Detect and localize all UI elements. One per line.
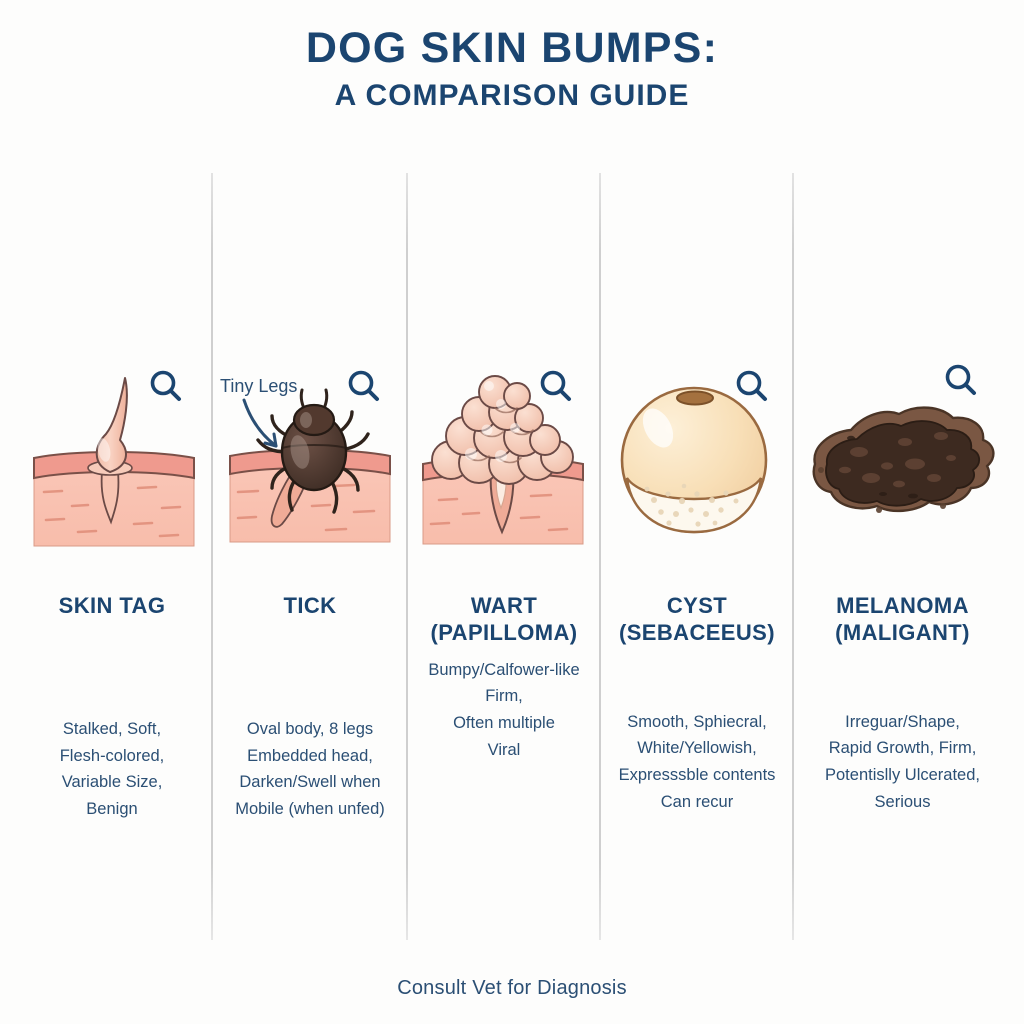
- comparison-column-skin-tag: SKIN TAG Stalked, Soft, Flesh-colored, V…: [14, 360, 210, 823]
- column-description-cyst: Smooth, Sphiecral, White/Yellowish, Expr…: [602, 709, 792, 816]
- desc-line: Mobile (when unfed): [214, 796, 406, 823]
- column-description-melanoma: Irreguar/Shape, Rapid Growth, Firm, Pote…: [795, 709, 1010, 816]
- comparison-column-wart: WART (PAPILLOMA) Bumpy/Calfower-like Fir…: [409, 360, 599, 764]
- desc-line: Oval body, 8 legs: [214, 716, 406, 743]
- magnifier-icon[interactable]: [147, 368, 187, 408]
- column-divider-2: [406, 173, 408, 940]
- column-description-skin-tag: Stalked, Soft, Flesh-colored, Variable S…: [14, 716, 210, 823]
- desc-line: Potentislly Ulcerated,: [795, 762, 1010, 789]
- comparison-column-tick: Tiny Legs TICK Oval body, 8 legs Embedde…: [214, 360, 406, 823]
- column-title-wart: WART (PAPILLOMA): [409, 593, 599, 647]
- desc-line: Smooth, Sphiecral,: [602, 709, 792, 736]
- page-title: DOG SKIN BUMPS: A COMPARISON GUIDE: [0, 26, 1024, 112]
- desc-line: Bumpy/Calfower-like: [409, 657, 599, 684]
- desc-line: Viral: [409, 737, 599, 764]
- title-line: (MALIGANT): [795, 620, 1010, 647]
- desc-line: Serious: [795, 789, 1010, 816]
- desc-line: Flesh-colored,: [14, 743, 210, 770]
- title-line: CYST: [602, 593, 792, 620]
- magnifier-icon[interactable]: [537, 368, 577, 408]
- column-title-melanoma: MELANOMA (MALIGANT): [795, 593, 1010, 647]
- wart-illustration: [409, 360, 599, 565]
- footer-note: Consult Vet for Diagnosis: [0, 977, 1024, 1000]
- desc-line: Firm,: [409, 683, 599, 710]
- desc-line: Rapid Growth, Firm,: [795, 735, 1010, 762]
- desc-line: Variable Size,: [14, 769, 210, 796]
- desc-line: Expresssble contents: [602, 762, 792, 789]
- desc-line: Stalked, Soft,: [14, 716, 210, 743]
- desc-line: Darken/Swell when: [214, 769, 406, 796]
- title-subtitle: A COMPARISON GUIDE: [0, 79, 1024, 112]
- skin-tag-illustration: [14, 360, 210, 565]
- column-description-tick: Oval body, 8 legs Embedded head, Darken/…: [214, 716, 406, 823]
- title-line: (SEBACEEUS): [602, 620, 792, 647]
- column-divider-4: [792, 173, 794, 940]
- infographic-canvas: DOG SKIN BUMPS: A COMPARISON GUIDE: [0, 0, 1024, 1024]
- desc-line: Can recur: [602, 789, 792, 816]
- desc-line: White/Yellowish,: [602, 735, 792, 762]
- title-line: MELANOMA: [795, 593, 1010, 620]
- column-title-skin-tag: SKIN TAG: [14, 593, 210, 620]
- desc-line: Benign: [14, 796, 210, 823]
- tick-illustration: Tiny Legs: [214, 360, 406, 565]
- magnifier-icon[interactable]: [345, 368, 385, 408]
- desc-line: Irreguar/Shape,: [795, 709, 1010, 736]
- desc-line: Often multiple: [409, 710, 599, 737]
- column-description-wart: Bumpy/Calfower-like Firm, Often multiple…: [409, 657, 599, 764]
- melanoma-illustration: [795, 360, 1010, 565]
- annotation-arrow-icon: [236, 396, 306, 466]
- tick-annotation-label: Tiny Legs: [220, 376, 297, 397]
- comparison-column-melanoma: MELANOMA (MALIGANT) Irreguar/Shape, Rapi…: [795, 360, 1010, 816]
- comparison-column-cyst: CYST (SEBACEEUS) Smooth, Sphiecral, Whit…: [602, 360, 792, 816]
- title-line: WART: [409, 593, 599, 620]
- title-main: DOG SKIN BUMPS:: [0, 26, 1024, 72]
- title-line: (PAPILLOMA): [409, 620, 599, 647]
- magnifier-icon[interactable]: [942, 362, 982, 402]
- cyst-illustration: [602, 360, 792, 565]
- column-divider-1: [211, 173, 213, 940]
- magnifier-icon[interactable]: [733, 368, 773, 408]
- column-title-cyst: CYST (SEBACEEUS): [602, 593, 792, 647]
- column-title-tick: TICK: [214, 593, 406, 620]
- desc-line: Embedded head,: [214, 743, 406, 770]
- column-divider-3: [599, 173, 601, 940]
